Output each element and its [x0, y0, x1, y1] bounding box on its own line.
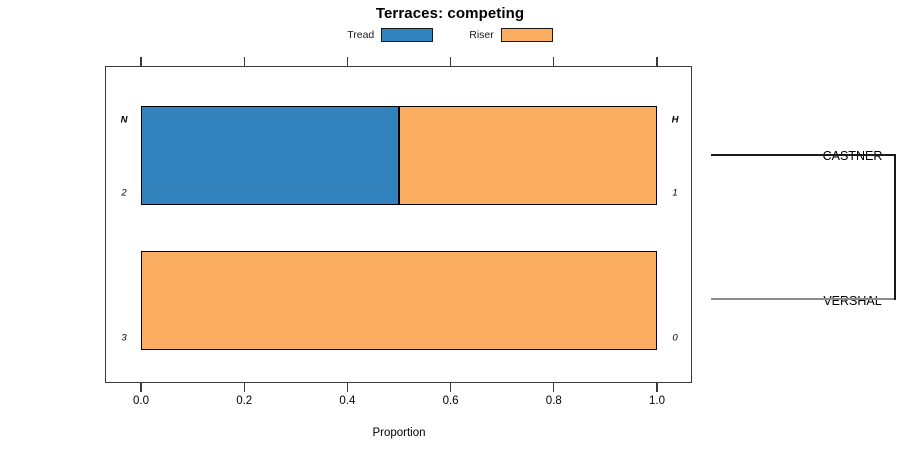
x-tick-top-3	[450, 57, 451, 66]
x-tick-label-3: 0.6	[443, 395, 459, 407]
x-tick-top-2	[347, 57, 348, 66]
legend-label-riser: Riser	[469, 29, 494, 41]
legend-swatch-riser	[501, 28, 553, 42]
x-axis-title: Proportion	[0, 427, 798, 439]
chart-title: Terraces: competing	[0, 5, 900, 22]
cell-note-castner-right-top: H	[672, 115, 679, 126]
bar-segment-vershal-riser[interactable]	[141, 251, 657, 350]
x-tick-label-5: 1.0	[649, 395, 665, 407]
x-tick-top-1	[244, 57, 245, 66]
x-tick-label-2: 0.4	[339, 395, 355, 407]
x-tick-top-4	[553, 57, 554, 66]
legend-label-tread: Tread	[347, 29, 374, 41]
x-tick-bottom-2	[347, 383, 348, 392]
category-label-vershal: VERSHAL	[805, 294, 900, 308]
x-tick-bottom-0	[140, 383, 141, 392]
x-tick-top-0	[140, 57, 141, 66]
cell-note-castner-left-bottom: 2	[121, 188, 126, 199]
x-tick-label-1: 0.2	[236, 395, 252, 407]
dendrogram-join	[894, 154, 896, 300]
x-tick-bottom-5	[656, 383, 657, 392]
legend-item-riser[interactable]: Riser	[469, 28, 553, 42]
x-tick-label-0: 0.0	[133, 395, 149, 407]
legend-item-tread[interactable]: Tread	[347, 28, 433, 42]
x-tick-bottom-3	[450, 383, 451, 392]
chart-legend: Tread Riser	[0, 28, 900, 42]
dendrogram-branch-vershal	[711, 298, 896, 300]
bar-segment-castner-riser[interactable]	[399, 106, 657, 205]
cell-note-castner-left-top: N	[121, 115, 128, 126]
x-tick-label-4: 0.8	[546, 395, 562, 407]
chart-canvas: Terraces: competing Tread Riser 0.00.20.…	[0, 0, 900, 460]
bar-segment-castner-tread[interactable]	[141, 106, 399, 205]
cell-note-castner-right-bottom: 1	[672, 188, 677, 199]
x-tick-bottom-4	[553, 383, 554, 392]
legend-swatch-tread	[381, 28, 433, 42]
cell-note-vershal-left-bottom: 3	[121, 333, 126, 344]
x-tick-top-5	[656, 57, 657, 66]
x-tick-bottom-1	[244, 383, 245, 392]
cell-note-vershal-right-bottom: 0	[672, 333, 677, 344]
dendrogram-branch-castner	[711, 154, 896, 156]
